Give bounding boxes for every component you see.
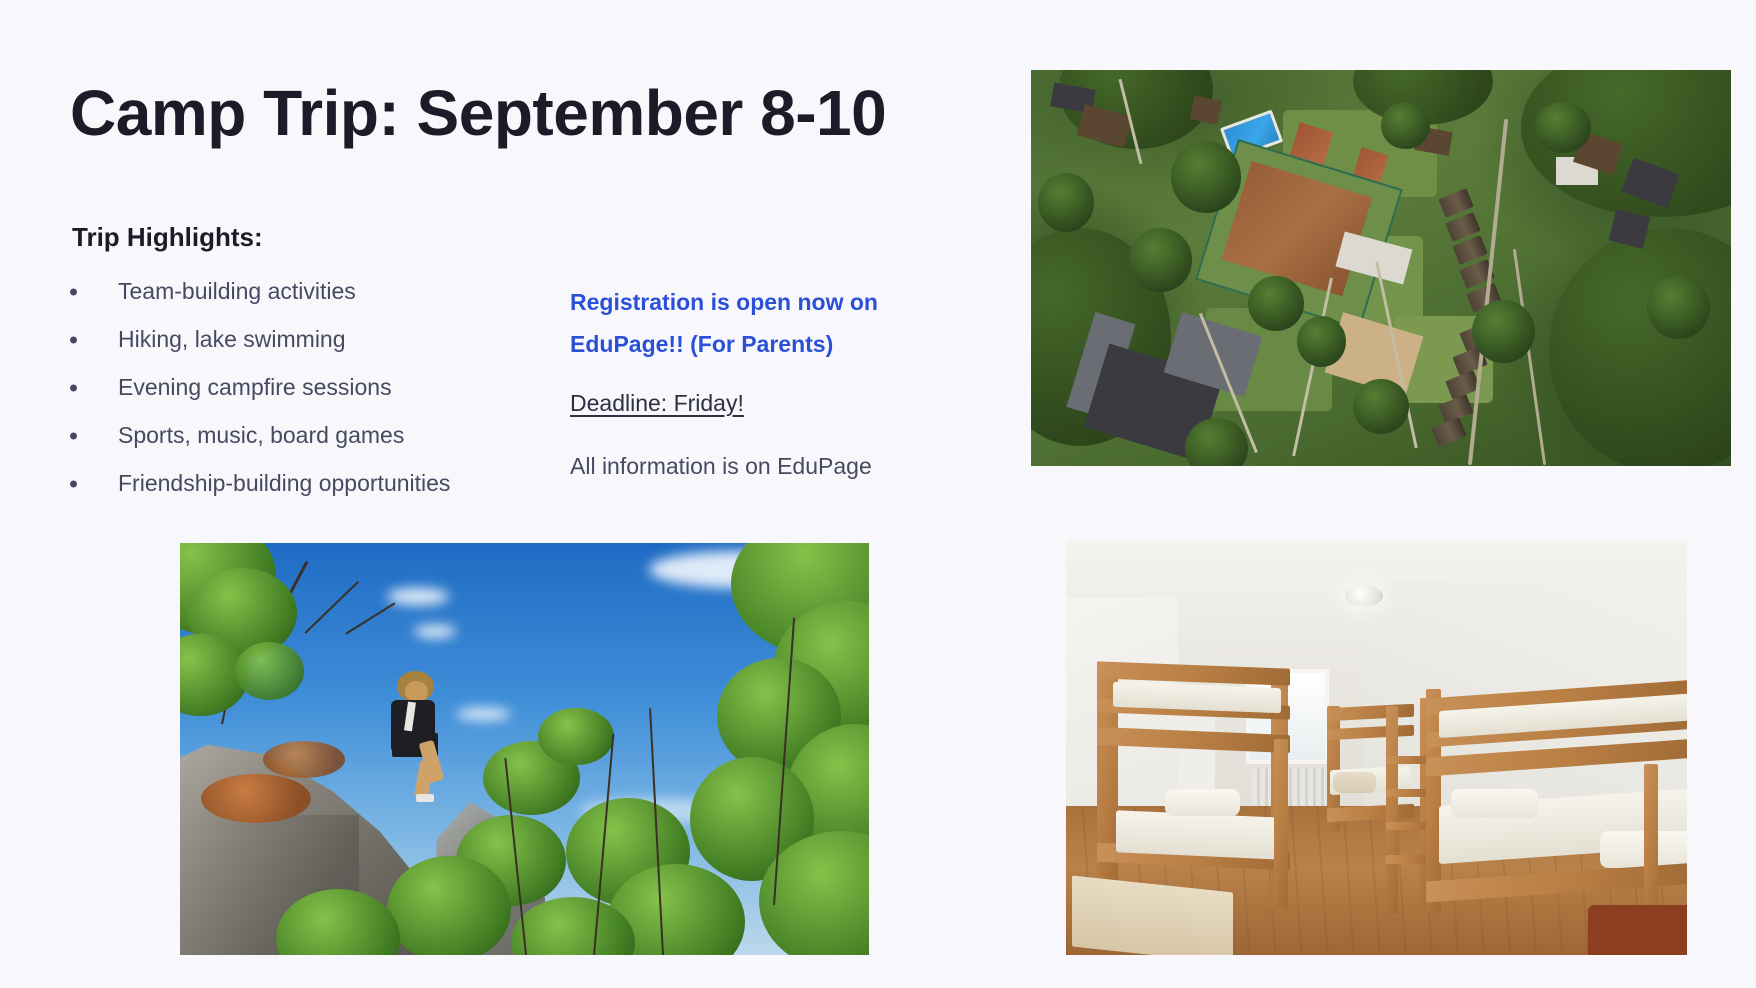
list-item-label: Friendship-building opportunities (118, 470, 450, 496)
highlights-list: Team-building activities Hiking, lake sw… (66, 280, 536, 520)
hiker-head (405, 681, 428, 702)
bullet-dot-icon (70, 480, 77, 487)
aerial-camp-scene (1031, 70, 1731, 466)
aerial-camp-photo (1031, 70, 1731, 466)
registration-block: Registration is open now on EduPage!! (F… (570, 282, 950, 480)
slide-canvas: Camp Trip: September 8-10 Trip Highlight… (0, 0, 1756, 988)
ceiling-light-icon (1345, 586, 1382, 607)
radiator (1252, 768, 1327, 805)
registration-note: All information is on EduPage (570, 453, 950, 480)
hiker-shoe (416, 794, 434, 801)
bullet-dot-icon (70, 288, 77, 295)
page-title: Camp Trip: September 8-10 (70, 78, 886, 148)
list-item: Evening campfire sessions (66, 376, 536, 399)
deadline-text: Deadline: Friday! (570, 390, 744, 417)
list-item: Friendship-building opportunities (66, 472, 536, 495)
list-item-label: Evening campfire sessions (118, 374, 392, 400)
highlights-heading: Trip Highlights: (72, 222, 263, 253)
pillow (1165, 789, 1240, 816)
list-item-label: Hiking, lake swimming (118, 326, 346, 352)
list-item-label: Team-building activities (118, 278, 356, 304)
list-item: Team-building activities (66, 280, 536, 303)
list-item-label: Sports, music, board games (118, 422, 404, 448)
registration-headline: Registration is open now on EduPage!! (F… (570, 282, 950, 366)
bullet-dot-icon (70, 384, 77, 391)
hiking-viewpoint-photo (180, 543, 869, 955)
bunk-room-scene (1066, 540, 1687, 955)
bunk-room-photo (1066, 540, 1687, 955)
list-item: Hiking, lake swimming (66, 328, 536, 351)
hiking-scene (180, 543, 869, 955)
red-seat (1588, 905, 1687, 955)
bullet-dot-icon (70, 432, 77, 439)
bullet-dot-icon (70, 336, 77, 343)
list-item: Sports, music, board games (66, 424, 536, 447)
